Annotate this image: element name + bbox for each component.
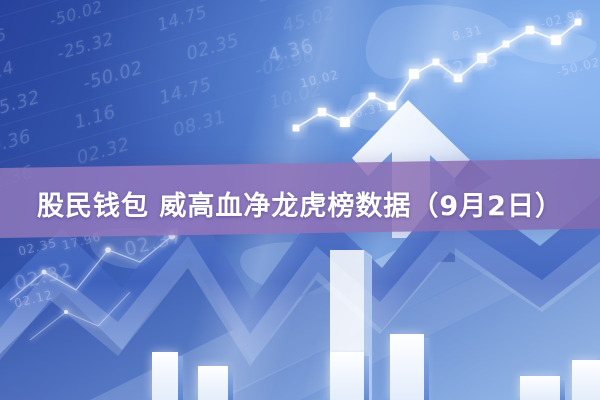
chart-bar [330, 352, 364, 400]
chart-bar [152, 352, 178, 400]
banner-image: 45.02-02.96-11.2521.96-45.02-02.96-11.25… [0, 0, 600, 400]
chart-bar [390, 334, 424, 400]
title-band [0, 159, 600, 238]
chart-bar [198, 366, 228, 400]
chart-bar [572, 360, 600, 400]
chart-bar [520, 376, 560, 400]
